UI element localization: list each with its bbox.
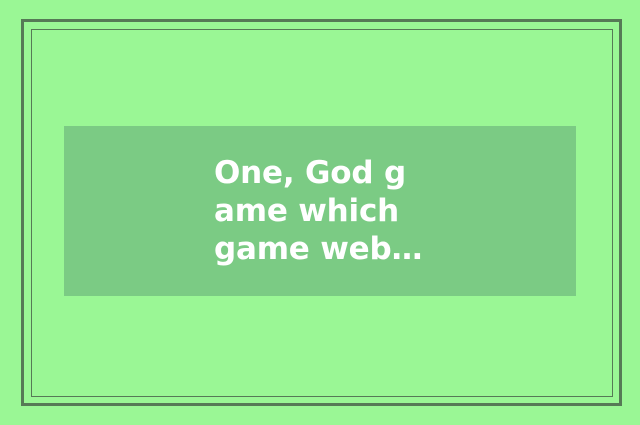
text-panel: One, God game which game web… — [64, 126, 576, 296]
panel-text: One, God game which game web… — [214, 154, 426, 268]
canvas: One, God game which game web… — [0, 0, 640, 425]
